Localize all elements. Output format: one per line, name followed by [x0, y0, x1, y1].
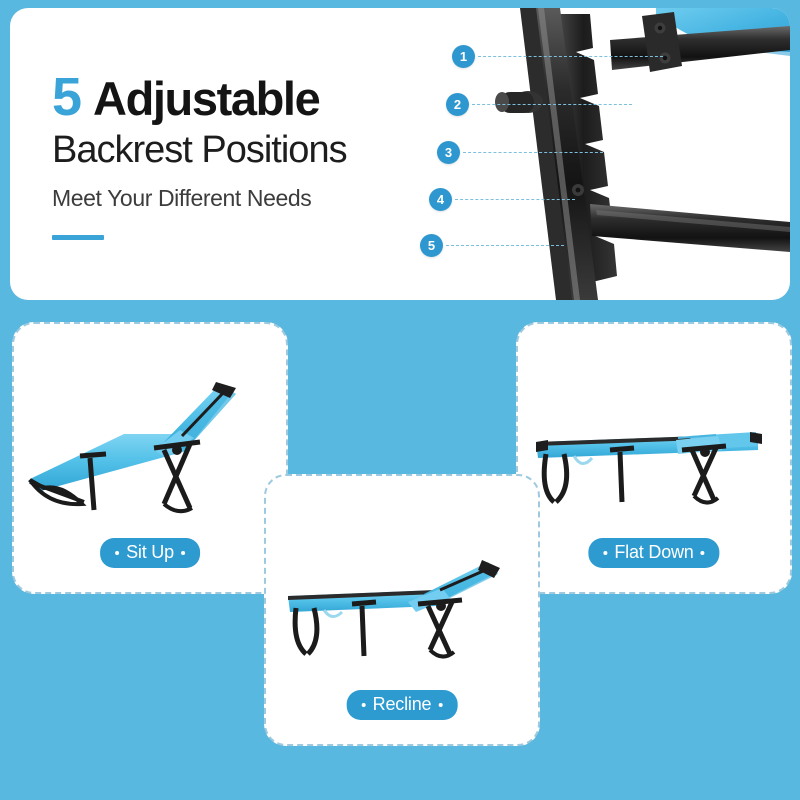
mode-label-recline: Recline — [347, 690, 458, 720]
callout-4[interactable]: 4 — [429, 188, 575, 211]
callout-3[interactable]: 3 — [437, 141, 603, 164]
callout-2[interactable]: 2 — [446, 93, 632, 116]
mode-label-text: Recline — [373, 694, 432, 715]
mode-card-recline[interactable]: Recline — [264, 474, 540, 746]
chair-illustration-recline — [266, 490, 538, 680]
callout-leader-line-5 — [446, 245, 564, 246]
callout-5[interactable]: 5 — [420, 234, 564, 257]
callout-badge-4[interactable]: 4 — [429, 188, 452, 211]
callout-leader-line-4 — [455, 199, 575, 200]
callout-leader-line-3 — [463, 152, 603, 153]
pill-dot-right-icon — [438, 703, 442, 707]
mode-label-text: Sit Up — [126, 542, 174, 563]
mode-card-flat-down[interactable]: Flat Down — [516, 322, 792, 594]
headline: 5 Adjustable — [52, 70, 432, 124]
mode-label-flat-down: Flat Down — [588, 538, 719, 568]
callout-leader-line-2 — [472, 104, 632, 105]
callout-1[interactable]: 1 — [452, 45, 663, 68]
pill-dot-right-icon — [181, 551, 185, 555]
accent-underline — [52, 235, 104, 240]
callout-badge-2[interactable]: 2 — [446, 93, 469, 116]
headline-line-two: Backrest Positions — [52, 130, 432, 170]
chair-illustration-sit-up — [14, 338, 286, 528]
mode-label-sit-up: Sit Up — [100, 538, 200, 568]
pill-dot-left-icon — [603, 551, 607, 555]
hero-text-block: 5 Adjustable Backrest Positions Meet You… — [52, 70, 432, 240]
pill-dot-left-icon — [115, 551, 119, 555]
headline-number: 5 — [52, 70, 81, 124]
pill-dot-right-icon — [701, 551, 705, 555]
pill-dot-left-icon — [362, 703, 366, 707]
mode-label-text: Flat Down — [614, 542, 693, 563]
callout-leader-line-1 — [478, 56, 663, 57]
headline-word: Adjustable — [93, 75, 319, 122]
hero-panel: 5 Adjustable Backrest Positions Meet You… — [10, 8, 790, 300]
callout-badge-1[interactable]: 1 — [452, 45, 475, 68]
mode-card-sit-up[interactable]: Sit Up — [12, 322, 288, 594]
subheadline: Meet Your Different Needs — [52, 185, 432, 212]
callout-badge-3[interactable]: 3 — [437, 141, 460, 164]
callout-badge-5[interactable]: 5 — [420, 234, 443, 257]
chair-illustration-flat-down — [518, 338, 790, 528]
